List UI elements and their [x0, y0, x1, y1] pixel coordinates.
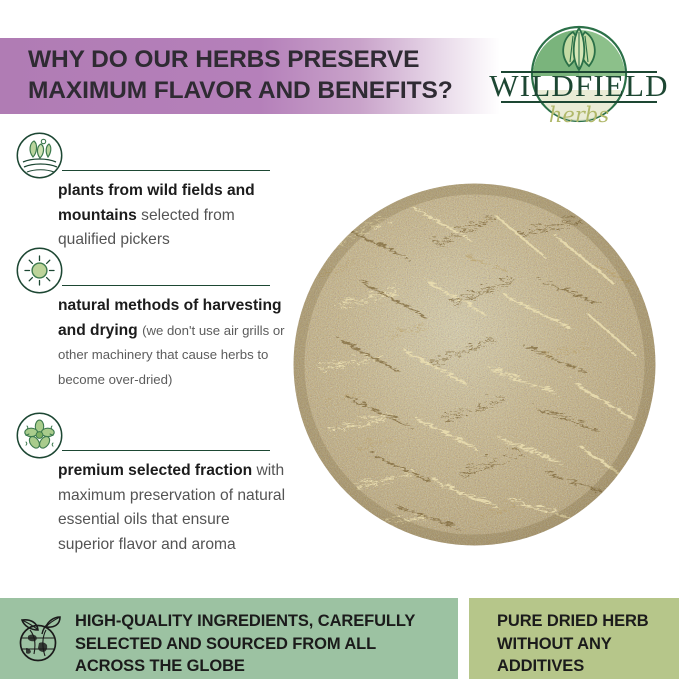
- field-plants-icon: [16, 132, 63, 179]
- feature-divider: [62, 285, 270, 286]
- banner-high-quality-ingredients: HIGH-QUALITY INGREDIENTS, CAREFULLY SELE…: [0, 598, 458, 679]
- feature-text-premium-fraction: premium selected fraction with maximum p…: [58, 459, 290, 557]
- bottom-banners: HIGH-QUALITY INGREDIENTS, CAREFULLY SELE…: [0, 598, 679, 679]
- brand-logo: WILDFIELD herbs: [489, 18, 669, 130]
- feature-divider: [62, 450, 270, 451]
- feature-bold-lead: premium selected fraction: [58, 462, 252, 479]
- globe-leaf-icon: [12, 610, 68, 666]
- herb-flower-icon: [16, 412, 63, 459]
- logo-wordmark: WILDFIELD: [489, 68, 669, 103]
- feature-text-drying: natural methods of harvesting and drying…: [58, 294, 290, 392]
- header: WHY DO OUR HERBS PRESERVE MAXIMUM FLAVOR…: [0, 0, 679, 132]
- banner-right-text: PURE DRIED HERB WITHOUT ANY ADDITIVES: [497, 610, 672, 678]
- page-title: WHY DO OUR HERBS PRESERVE MAXIMUM FLAVOR…: [28, 44, 488, 106]
- feature-divider: [62, 170, 270, 171]
- logo-tagline: herbs: [549, 103, 609, 127]
- sun-drying-icon: [16, 247, 63, 294]
- logo-artwork: WILDFIELD herbs: [489, 18, 669, 130]
- dried-herb-circle-photo: [293, 183, 656, 546]
- herb-texture: [293, 183, 656, 546]
- banner-pure-dried-herb: PURE DRIED HERB WITHOUT ANY ADDITIVES: [469, 598, 679, 679]
- banner-left-text: HIGH-QUALITY INGREDIENTS, CAREFULLY SELE…: [75, 610, 450, 678]
- feature-text-wild-fields: plants from wild fields and mountains se…: [58, 179, 290, 253]
